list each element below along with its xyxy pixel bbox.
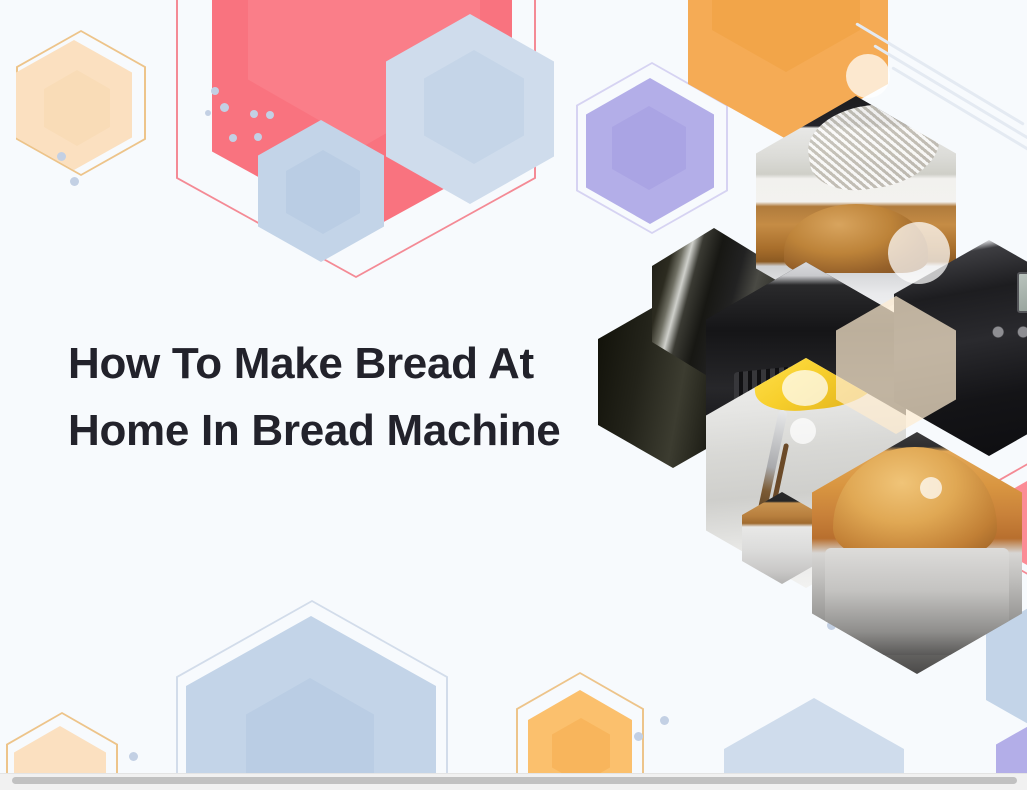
decor-dot (634, 732, 643, 741)
horizontal-scrollbar-track[interactable] (0, 773, 1027, 790)
decor-dot (129, 752, 138, 761)
photo-collage (630, 40, 1027, 680)
light-blob (888, 222, 950, 284)
light-blob (846, 54, 890, 98)
decor-dot (220, 103, 229, 112)
decor-dot (250, 110, 258, 118)
decor-dot (254, 133, 262, 141)
horizontal-scrollbar-thumb[interactable] (12, 777, 1017, 784)
hexagon-blue-bottom-right (724, 698, 904, 773)
decor-dot (266, 111, 274, 119)
decor-dot (205, 110, 211, 116)
decor-dot (57, 152, 66, 161)
hexagon-lavender-right-low (996, 716, 1027, 773)
light-blob (920, 477, 942, 499)
decor-dot (660, 716, 669, 725)
decor-dot (229, 134, 237, 142)
page-root: How To Make Bread At Home In Bread Machi… (0, 0, 1027, 790)
page-title: How To Make Bread At Home In Bread Machi… (68, 330, 648, 464)
light-blob (790, 418, 816, 444)
decor-dot (211, 87, 219, 95)
hero-banner: How To Make Bread At Home In Bread Machi… (0, 0, 1027, 773)
light-blob (782, 370, 828, 406)
decor-dot (70, 177, 79, 186)
